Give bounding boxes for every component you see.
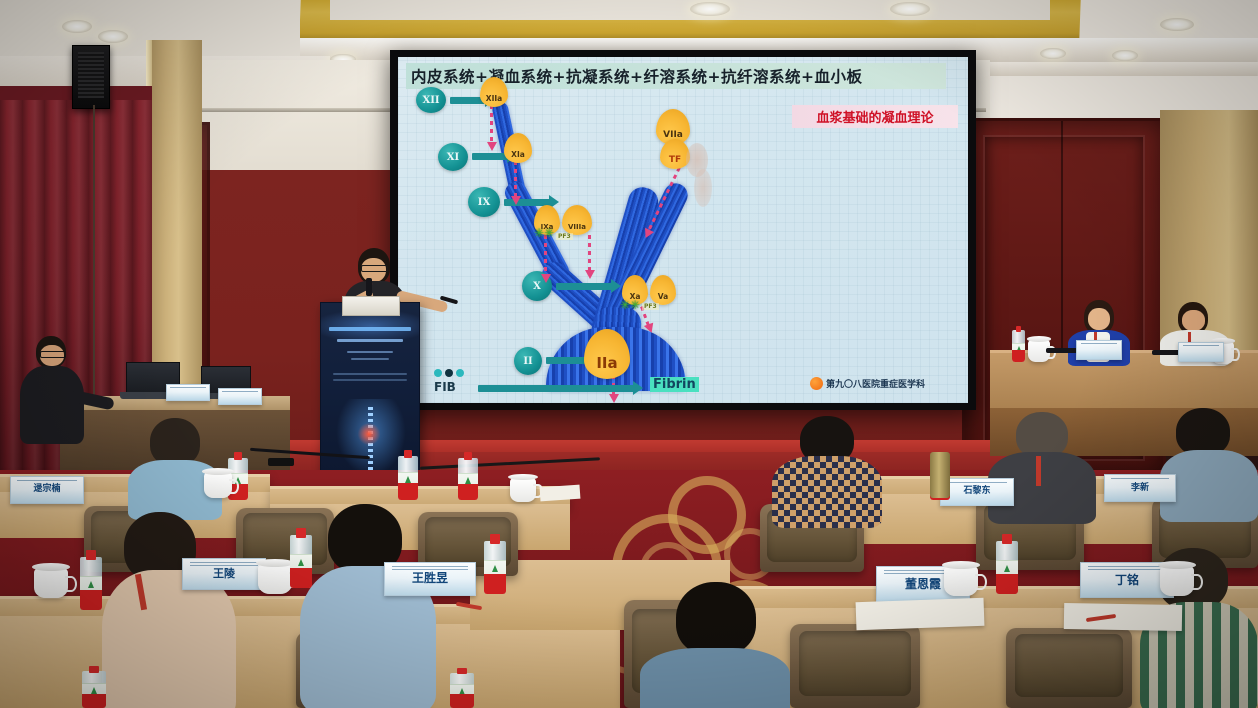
bottle-cap: [490, 534, 500, 544]
placard-panelist-1: [1076, 340, 1122, 360]
cofactor-PF3: PF3: [556, 233, 573, 240]
tf-cell-membrane: [694, 169, 712, 207]
table-microphone[interactable]: [1046, 348, 1080, 353]
tea-mug: [944, 566, 978, 596]
bottle-cap: [89, 666, 100, 673]
water-bottle: [1012, 326, 1025, 362]
drop-label: XIIa: [480, 94, 508, 103]
audience-torso: [640, 648, 790, 708]
drop-label: Va: [650, 292, 676, 301]
factor-XI: XI: [438, 143, 468, 171]
mug-lid: [942, 561, 980, 569]
fibrin-conversion-arrow: [478, 385, 634, 392]
mug-lid: [508, 474, 537, 480]
placard-name: [1200, 350, 1202, 356]
mug-lid: [32, 563, 70, 571]
audience-lanyard: [1036, 456, 1041, 486]
activated-XIIa: XIIa: [480, 77, 508, 107]
activated-XIa: XIa: [504, 133, 532, 163]
panelist-face: [1088, 308, 1110, 330]
leaf-icon: [1004, 565, 1010, 572]
bottle-label-red: [996, 574, 1018, 594]
podium-heart-graphic: [357, 423, 381, 445]
downlight-icon: [1160, 18, 1194, 31]
feedback-arrow: [490, 105, 493, 143]
placard-header-lines: [222, 391, 257, 393]
bottle-cap: [86, 550, 96, 560]
conference-hall-scene: 内皮系统+凝血系统+抗凝系统+纤溶系统+抗纤溶系统+血小板 血浆基础的凝血理论 …: [0, 0, 1258, 708]
mug-handle: [229, 479, 239, 494]
downlight-icon: [690, 2, 730, 16]
placard-name: 王胜昱: [412, 572, 448, 584]
bottle-cap: [296, 528, 306, 538]
audience-chair-front[interactable]: [1006, 628, 1132, 708]
fibrin-label: Fibrin: [650, 377, 699, 392]
podium-title-line: [329, 327, 411, 331]
placard-2: 王胜昱: [384, 562, 476, 596]
mug-handle: [65, 576, 77, 593]
audience-torso: [102, 570, 236, 708]
audience-member: [300, 504, 436, 708]
leaf-icon: [492, 565, 498, 572]
audience-torso: [772, 456, 882, 528]
podium-nameplate: [342, 296, 400, 316]
hospital-logo-text: 第九〇八医院重症医学科: [826, 377, 925, 390]
podium-detail-line: [351, 358, 389, 360]
water-bottle: [458, 452, 478, 500]
downlight-icon: [98, 30, 128, 43]
activation-arrow: [472, 153, 508, 160]
placard-0: 逯宗楠: [10, 476, 84, 504]
placard-av-1: [166, 384, 210, 401]
placard-name: 李新: [1131, 484, 1149, 493]
water-bottle: [450, 668, 474, 708]
bottle-label-red: [80, 590, 102, 610]
bottle-cap: [457, 668, 468, 674]
thermos-flask: [930, 452, 950, 498]
presenter-glasses-icon: [361, 265, 388, 272]
factor-label: II: [523, 356, 532, 367]
audience-member: [772, 416, 882, 522]
audience-head: [1176, 408, 1230, 456]
hospital-logo-icon: [810, 377, 823, 390]
speaker-cable: [93, 105, 95, 405]
platelet-icon: ✳✳: [534, 227, 554, 239]
tea-mug: [34, 568, 68, 598]
microphone-icon[interactable]: [366, 278, 372, 296]
podium-detail-line: [347, 351, 393, 353]
placard-name: [239, 394, 241, 399]
placard-name: [187, 390, 189, 395]
placard-name: [1098, 348, 1100, 354]
water-bottle: [80, 550, 102, 610]
activated-VIIIa: VIIIa: [562, 205, 592, 235]
tea-mug: [510, 478, 536, 502]
placard-header-lines: [1081, 343, 1118, 346]
podium-subtitle-line: [337, 339, 403, 342]
placard-header-lines: [392, 566, 468, 570]
av-technician: [18, 336, 88, 466]
activation-arrow: [556, 283, 612, 290]
factor-XII: XII: [416, 87, 446, 113]
placard-3: 石黎东: [940, 478, 1014, 506]
placard-panelist-2: [1178, 342, 1224, 362]
drop-label: IIa: [584, 354, 630, 372]
bottle-label-red: [458, 484, 478, 500]
mug-handle: [1191, 574, 1203, 591]
podium-detail-line: [333, 373, 407, 375]
factor-label: XII: [422, 95, 439, 106]
factor-II: II: [514, 347, 542, 375]
placard-name: 丁铭: [1115, 574, 1139, 586]
downlight-icon: [1112, 50, 1138, 61]
audience-head: [676, 582, 756, 656]
panelist-face: [1182, 310, 1205, 331]
placard-header-lines: [190, 562, 259, 566]
downlight-icon: [62, 20, 92, 33]
podium-detail-line: [333, 379, 407, 381]
tea-mug: [258, 564, 292, 594]
bottle-cap: [234, 452, 243, 460]
platelet-icon: ✳✳: [620, 299, 640, 311]
technician-glasses-icon: [40, 351, 66, 358]
audience-member: [640, 582, 790, 708]
mug-handle: [975, 574, 987, 591]
placard-header-lines: [170, 387, 205, 389]
water-bottle: [398, 450, 418, 500]
mug-lid: [202, 468, 233, 475]
slide-subtitle: 血浆基础的凝血理论: [792, 105, 958, 128]
slide-logo: 第九〇八医院重症医学科: [810, 377, 925, 390]
bottle-cap: [1002, 534, 1012, 544]
placard-1: 王陵: [182, 558, 266, 590]
placard-header-lines: [1088, 566, 1165, 571]
placard-header-lines: [1183, 345, 1220, 348]
wall-speaker-icon: [72, 45, 110, 109]
fib-label: FIB: [434, 380, 456, 394]
chair-back: [799, 631, 911, 697]
mug-lid: [256, 559, 294, 567]
technician-torso: [20, 366, 84, 444]
activated-Va: Va: [650, 275, 676, 305]
leaf-icon: [405, 476, 411, 483]
placard-header-lines: [947, 482, 1008, 486]
downlight-icon: [1040, 48, 1066, 59]
factor-IX: IX: [468, 187, 500, 217]
drop-label: XIa: [504, 150, 532, 159]
placard-name: 王陵: [213, 568, 235, 579]
mug-lid: [1158, 561, 1196, 569]
bottle-label-red: [484, 574, 506, 594]
fib-molecule-icon: [445, 369, 453, 377]
feedback-arrow: [588, 235, 591, 271]
fib-molecule-icon: [434, 369, 442, 377]
placard-av-2: [218, 388, 262, 405]
audience-member: [126, 418, 224, 514]
mug-handle: [1231, 348, 1240, 361]
bottle-cap: [1016, 326, 1022, 332]
document-booklet: [856, 598, 985, 630]
bottle-label-red: [450, 694, 474, 708]
speaker-grille: [78, 52, 104, 98]
feedback-arrow: [514, 161, 517, 197]
audience-head: [150, 418, 200, 466]
placard-name: 董恩霞: [905, 578, 941, 590]
cofactor-PF3: PF3: [642, 303, 659, 310]
document-booklet: [1064, 603, 1182, 631]
bottle-label-red: [1012, 350, 1025, 362]
leaf-icon: [91, 687, 97, 694]
placard-name: 逯宗楠: [33, 485, 60, 494]
bottle-label-red: [290, 568, 312, 588]
water-bottle: [290, 528, 312, 588]
leaf-icon: [88, 581, 94, 588]
drop-label: VIIIa: [562, 223, 592, 231]
floor-power-box: [268, 458, 294, 466]
audience-chair-front[interactable]: [790, 624, 920, 708]
water-bottle: [996, 534, 1018, 594]
water-bottle: [484, 534, 506, 594]
chair-back: [1015, 634, 1123, 696]
factor-label: XI: [447, 152, 459, 163]
tea-mug: [1160, 566, 1194, 596]
downlight-icon: [890, 2, 930, 16]
bottle-label-red: [82, 694, 106, 708]
audience-member: [102, 512, 236, 708]
placard-header-lines: [1111, 478, 1170, 482]
bottle-cap: [404, 450, 413, 458]
leaf-icon: [298, 559, 304, 566]
mug-lid: [1027, 336, 1052, 342]
document-paper: [540, 485, 581, 502]
factor-label: IX: [478, 197, 490, 208]
feedback-arrow: [544, 235, 547, 275]
fib-molecule-icon: [456, 369, 464, 377]
bottle-cap: [464, 452, 473, 460]
activation-arrow: [546, 357, 588, 364]
tea-mug: [204, 472, 232, 498]
placard-header-lines: [17, 480, 78, 484]
placard-4: 李新: [1104, 474, 1176, 502]
placard-name: 石黎东: [963, 487, 990, 496]
water-bottle: [82, 666, 106, 708]
bottle-label-red: [398, 483, 418, 500]
projection-screen: 内皮系统+凝血系统+抗凝系统+纤溶系统+抗纤溶系统+血小板 血浆基础的凝血理论 …: [398, 57, 968, 403]
